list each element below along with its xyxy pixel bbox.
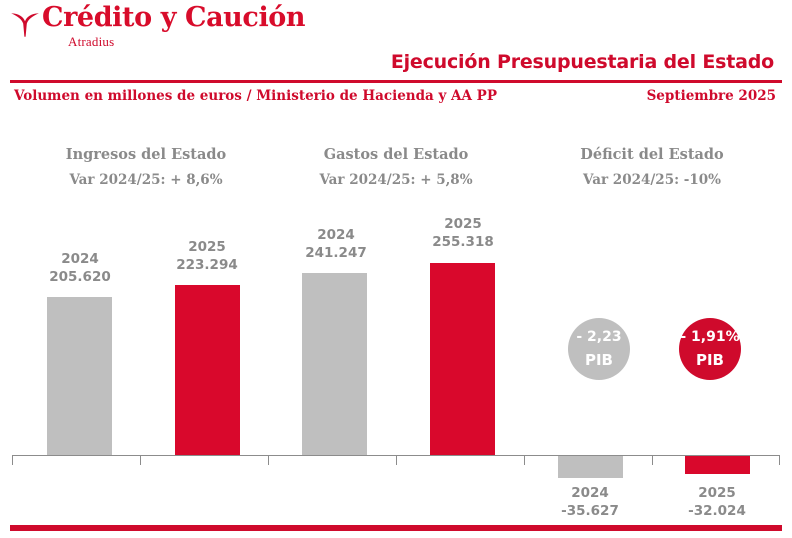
bar-label-deficit-2025: 2025 -32.024 [652,484,782,520]
header-divider [10,80,782,83]
pib-circle-2024: - 2,23 PIB [568,318,630,380]
pib-value-2025: - 1,91% [680,329,739,345]
bar-year-deficit-2024: 2024 [525,484,655,502]
axis-tick [12,455,13,465]
footer-divider [10,525,782,531]
section-title-deficit: Déficit del Estado [528,146,776,163]
bar-ingresos-2024 [47,297,112,455]
bar-value-deficit-2025: -32.024 [652,502,782,520]
pib-unit-2025: PIB [696,352,724,369]
axis-tick [524,455,525,465]
bar-deficit-2025 [685,456,750,474]
pib-circle-2025: - 1,91% PIB [679,318,741,380]
section-title-gastos: Gastos del Estado [272,146,520,163]
subtitle-period: Septiembre 2025 [647,88,776,104]
bar-year-gastos-2024: 2024 [270,226,402,244]
bar-deficit-2024 [558,456,623,478]
section-variation-ingresos: Var 2024/25: + 8,6% [18,172,274,188]
page-title: Ejecución Presupuestaria del Estado [391,51,774,73]
section-variation-gastos: Var 2024/25: + 5,8% [272,172,520,188]
axis-tick [268,455,269,465]
bar-label-ingresos-2024: 2024 205.620 [15,250,145,286]
section-header-gastos: Gastos del Estado Var 2024/25: + 5,8% [272,146,520,188]
bar-label-gastos-2024: 2024 241.247 [270,226,402,262]
subtitle-row: Volumen en millones de euros / Ministeri… [14,88,776,104]
pib-unit-2024: PIB [585,352,613,369]
brand-logo: Crédito y Caución Atradius [10,4,305,48]
bar-label-ingresos-2025: 2025 223.294 [142,238,272,274]
subtitle-source: Volumen en millones de euros / Ministeri… [14,88,497,104]
section-header-deficit: Déficit del Estado Var 2024/25: -10% [528,146,776,188]
infographic-root: Crédito y Caución Atradius Ejecución Pre… [0,0,792,538]
axis-tick [140,455,141,465]
bar-year-gastos-2025: 2025 [398,215,528,233]
bar-gastos-2025 [430,263,495,455]
bar-ingresos-2025 [175,285,240,455]
bar-value-gastos-2024: 241.247 [270,244,402,262]
section-title-ingresos: Ingresos del Estado [18,146,274,163]
bar-label-gastos-2025: 2025 255.318 [398,215,528,251]
bar-value-ingresos-2024: 205.620 [15,268,145,286]
bar-year-deficit-2025: 2025 [652,484,782,502]
section-variation-deficit: Var 2024/25: -10% [528,172,776,188]
bar-value-deficit-2024: -35.627 [525,502,655,520]
bar-year-ingresos-2025: 2025 [142,238,272,256]
bar-label-deficit-2024: 2024 -35.627 [525,484,655,520]
pib-value-2024: - 2,23 [576,329,621,345]
bar-year-ingresos-2024: 2024 [15,250,145,268]
section-header-ingresos: Ingresos del Estado Var 2024/25: + 8,6% [18,146,274,188]
bar-gastos-2024 [302,273,367,455]
axis-tick [396,455,397,465]
axis-tick [652,455,653,465]
brand-name: Crédito y Caución [42,4,305,31]
bird-mark-icon [10,8,40,38]
bar-value-ingresos-2025: 223.294 [142,256,272,274]
brand-subname: Atradius [68,35,305,48]
bar-value-gastos-2025: 255.318 [398,233,528,251]
axis-tick [779,455,780,465]
